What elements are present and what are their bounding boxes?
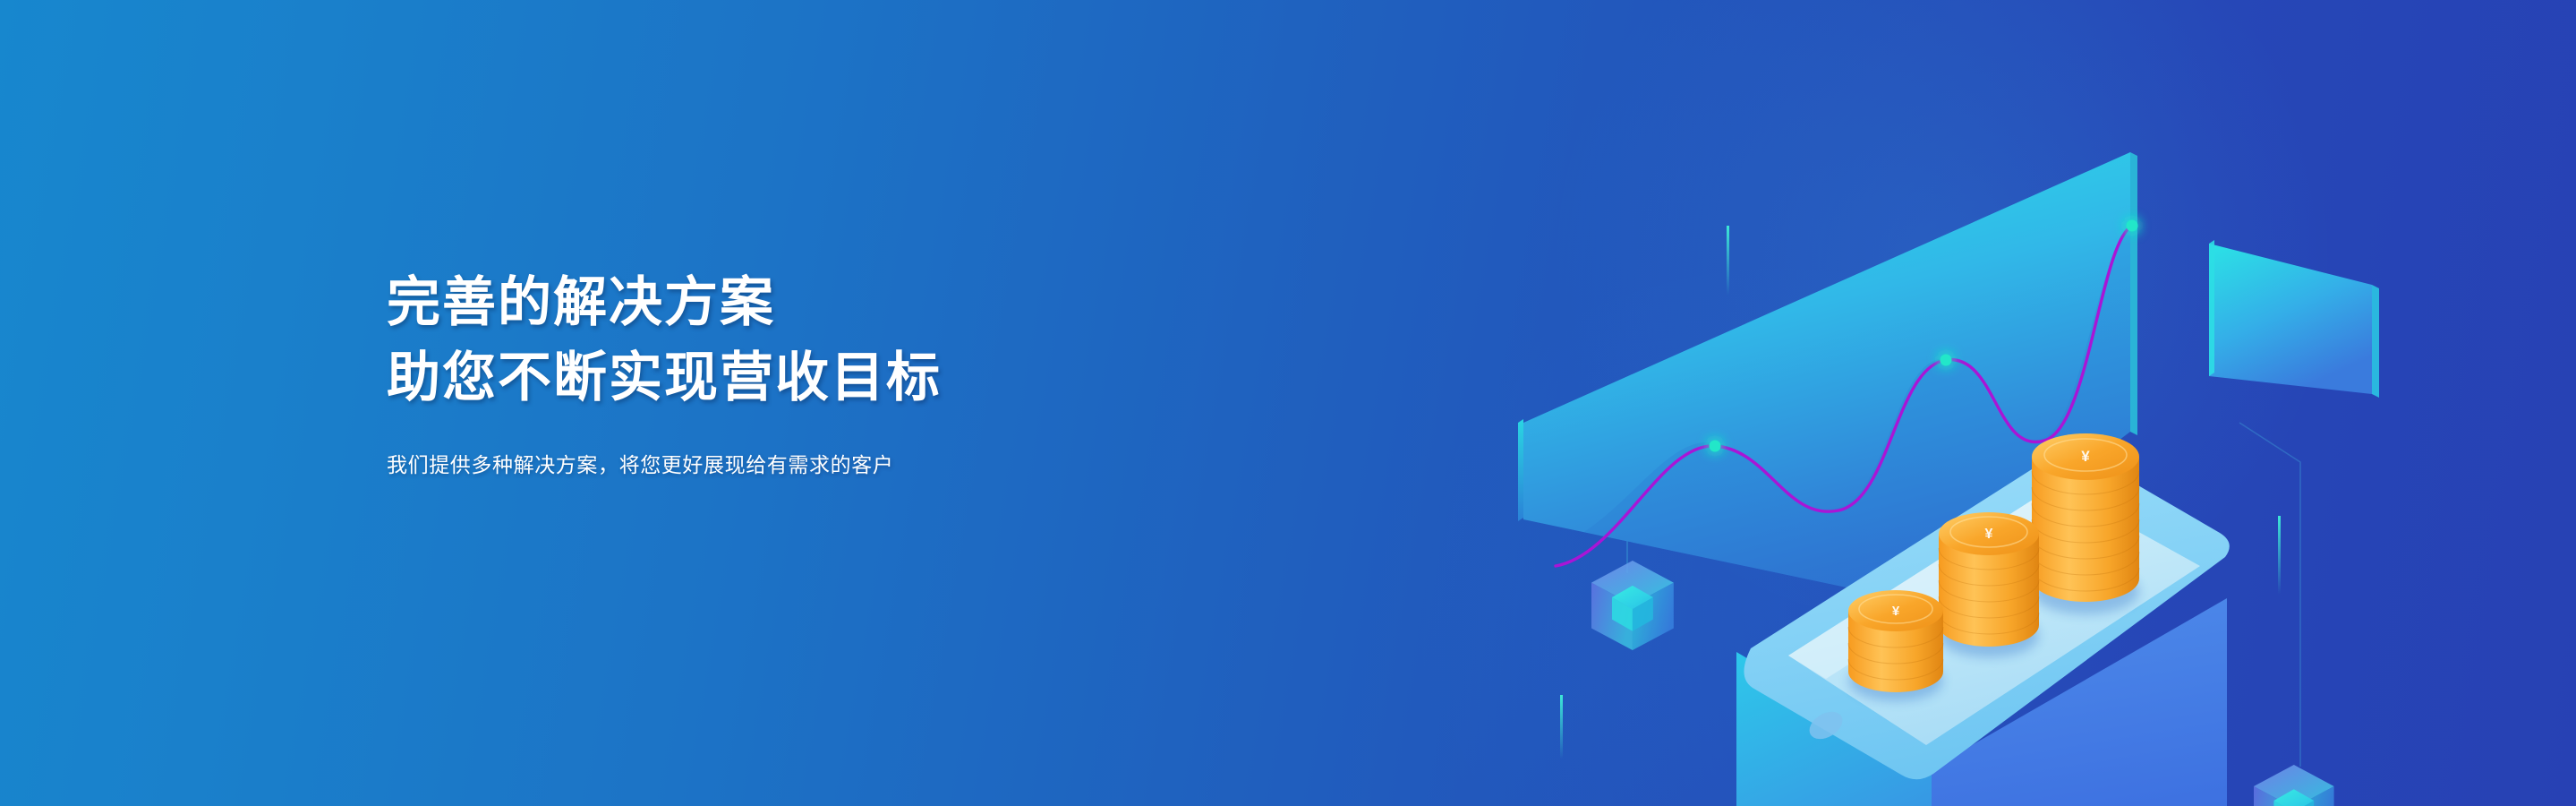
cube-left [1591, 561, 1674, 650]
chart-marker-1 [1710, 441, 1721, 452]
coin-currency-symbol: ¥ [1985, 527, 1993, 542]
hero-text-block: 完善的解决方案 助您不断实现营收目标 我们提供多种解决方案，将您更好展现给有需求… [387, 265, 1371, 480]
isometric-illustration-svg: ¥ ¥ [1468, 18, 2576, 806]
hero-subtitle: 我们提供多种解决方案，将您更好展现给有需求的客户 [387, 450, 1371, 480]
coin-stack-small: ¥ [1848, 590, 1943, 701]
coin-currency-symbol: ¥ [1892, 604, 1900, 619]
chart-marker-2 [1941, 355, 1952, 366]
headline-line-1: 完善的解决方案 [387, 265, 1371, 340]
coin-stack-tall: ¥ [2032, 433, 2139, 614]
coin-currency-symbol: ¥ [2081, 448, 2090, 465]
chart-marker-3 [2127, 220, 2138, 232]
coin-stack-medium: ¥ [1939, 512, 2039, 657]
hero-illustration: ¥ ¥ [1468, 18, 2576, 806]
secondary-panel [2207, 226, 2379, 398]
cube-right-upper [2254, 765, 2334, 806]
headline-line-2: 助您不断实现营收目标 [387, 340, 1371, 416]
hero-banner: 完善的解决方案 助您不断实现营收目标 我们提供多种解决方案，将您更好展现给有需求… [0, 0, 2576, 806]
